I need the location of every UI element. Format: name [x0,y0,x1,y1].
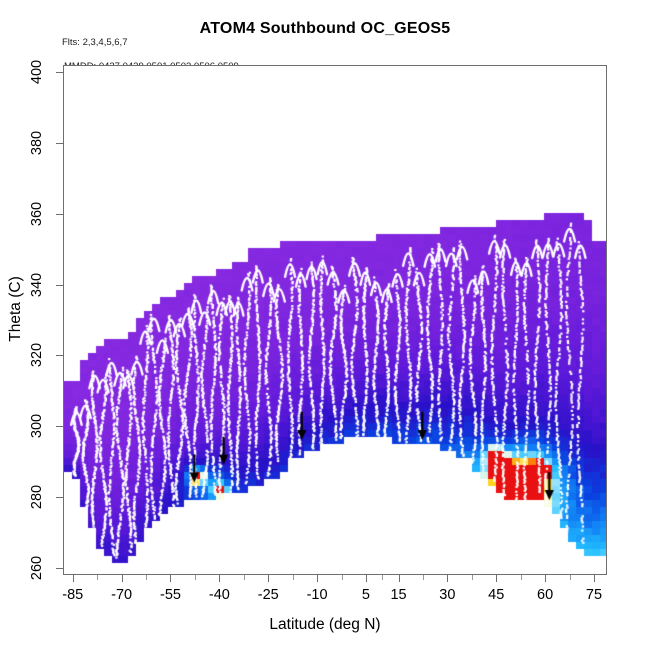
y-tick [56,355,63,356]
y-tick [56,72,63,73]
x-tick [545,575,546,582]
x-tick-label: -55 [160,587,181,603]
flights-annotation: Flts: 2,3,4,5,6,7 [62,37,127,48]
heatmap-canvas [64,66,607,575]
x-axis-title: Latitude (deg N) [0,616,650,634]
figure-root: ATOM4 Southbound OC_GEOS5 Flts: 2,3,4,5,… [0,0,650,650]
x-tick [594,575,595,582]
x-minor-tick [521,575,522,580]
y-tick [56,426,63,427]
plot-area [63,65,607,575]
y-tick [56,143,63,144]
x-tick [219,575,220,582]
x-tick-label: 15 [390,587,406,603]
x-tick-label: 75 [586,587,602,603]
x-minor-tick [382,575,383,580]
x-minor-tick [97,575,98,580]
x-minor-tick [570,575,571,580]
y-tick-label: 260 [29,556,45,580]
x-tick [399,575,400,582]
page-title: ATOM4 Southbound OC_GEOS5 [0,20,650,38]
x-tick-label: 30 [439,587,455,603]
y-tick [56,568,63,569]
y-tick-label: 320 [29,343,45,367]
x-tick-label: -10 [307,587,328,603]
y-tick [56,214,63,215]
x-tick-label: 45 [488,587,504,603]
y-tick [56,285,63,286]
x-tick [366,575,367,582]
x-minor-tick [423,575,424,580]
x-tick [317,575,318,582]
y-tick-label: 280 [29,485,45,509]
y-tick-label: 340 [29,272,45,296]
x-minor-tick [293,575,294,580]
x-tick [170,575,171,582]
x-tick-label: -85 [62,587,83,603]
x-tick-label: 60 [537,587,553,603]
x-tick [73,575,74,582]
x-tick [496,575,497,582]
x-tick-label: -25 [258,587,279,603]
y-tick-label: 400 [29,60,45,84]
x-tick [447,575,448,582]
heatmap-canvas-wrap [64,66,606,574]
x-minor-tick [472,575,473,580]
x-minor-tick [146,575,147,580]
y-tick-label: 360 [29,202,45,226]
x-tick-label: -40 [209,587,230,603]
x-tick-label: 5 [362,587,370,603]
y-axis-title: Theta (C) [7,249,25,369]
x-minor-tick [195,575,196,580]
y-tick [56,497,63,498]
x-tick [122,575,123,582]
x-minor-tick [342,575,343,580]
x-tick-label: -70 [111,587,132,603]
y-tick-label: 380 [29,131,45,155]
x-minor-tick [244,575,245,580]
y-tick-label: 300 [29,414,45,438]
x-tick [268,575,269,582]
